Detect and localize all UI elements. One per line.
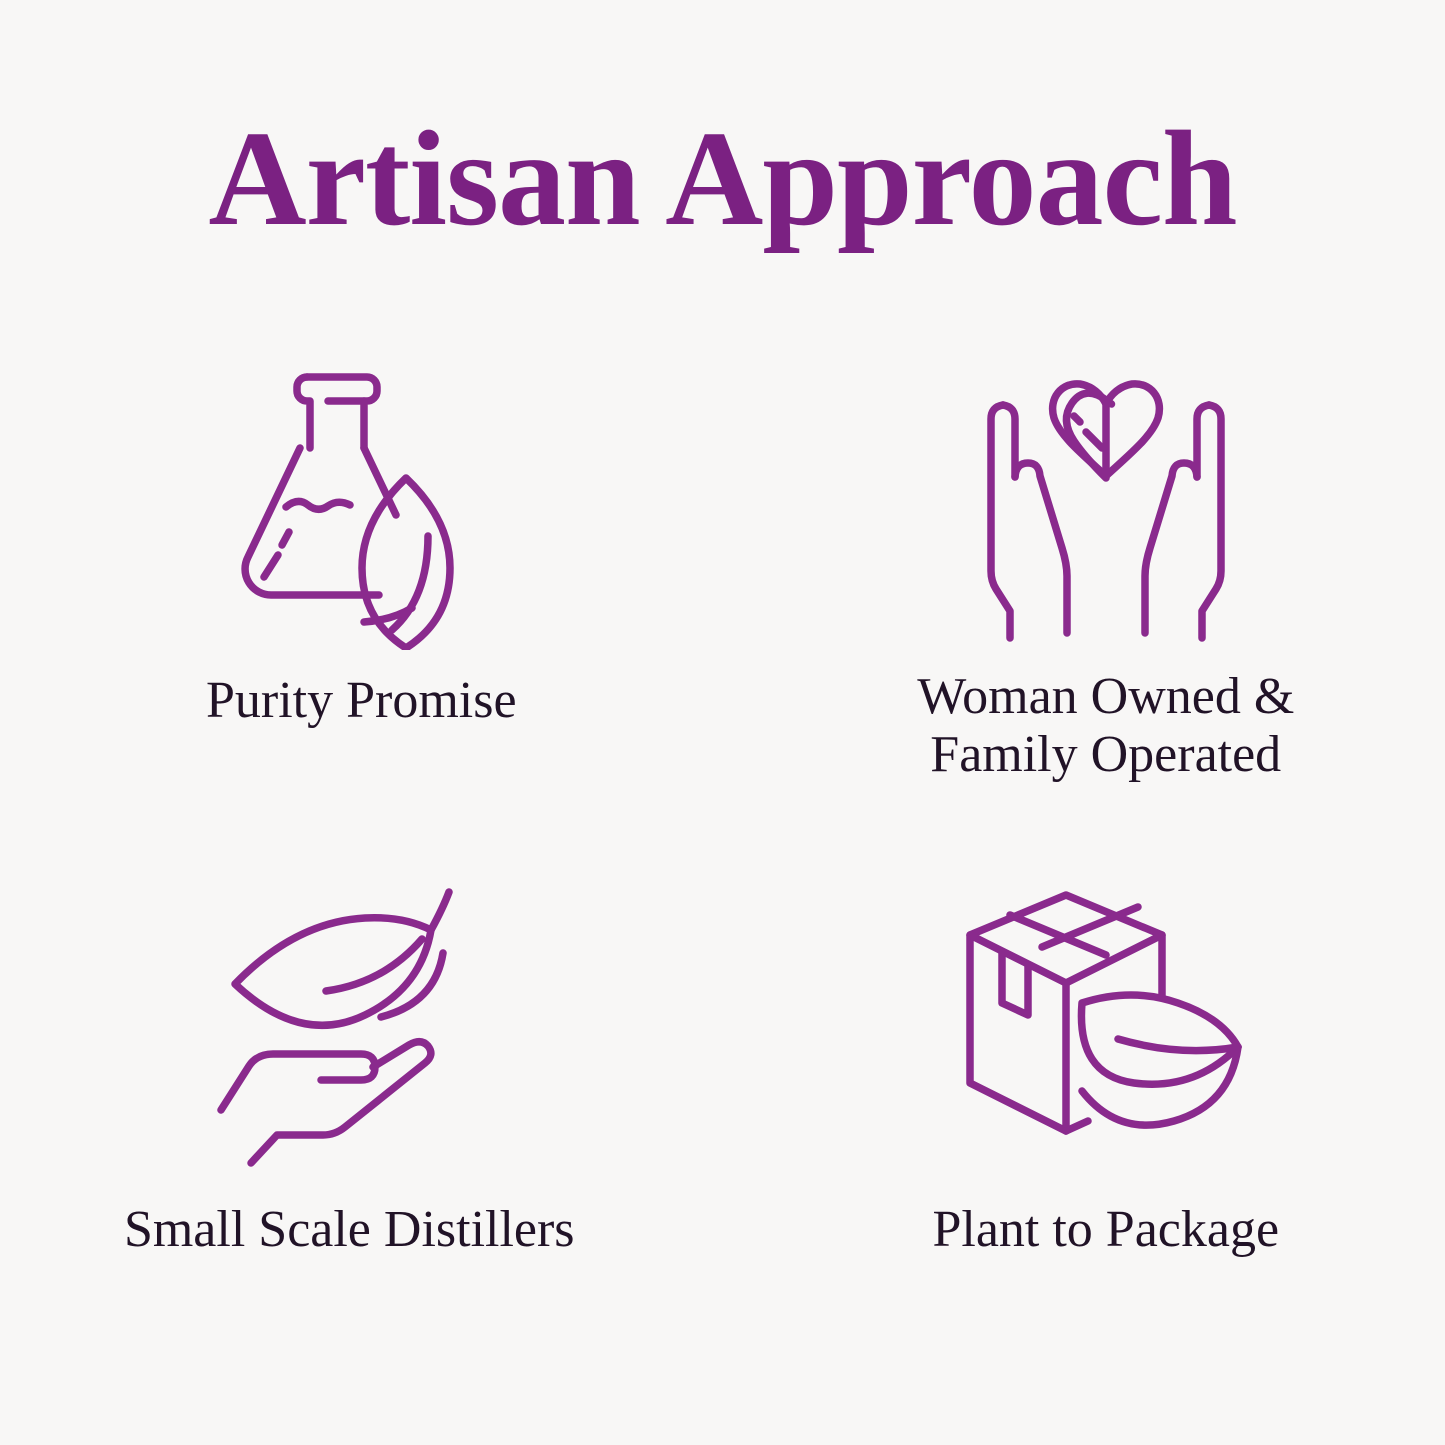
- page-title: Artisan Approach: [0, 108, 1445, 251]
- hand-holding-leaf-icon: [203, 875, 503, 1175]
- box-leaf-icon: [954, 875, 1254, 1175]
- feature-grid: Purity Promise: [0, 340, 1445, 1370]
- page-title-container: Artisan Approach: [0, 108, 1445, 251]
- feature-item-plant-to-package: Plant to Package: [723, 855, 1445, 1370]
- feature-label-woman-owned: Woman Owned & Family Operated: [917, 668, 1294, 784]
- artisan-approach-panel: Artisan Approach: [0, 0, 1445, 1445]
- feature-label-small-scale-distillers: Small Scale Distillers: [124, 1201, 575, 1259]
- feature-item-purity-promise: Purity Promise: [0, 340, 723, 855]
- feature-item-small-scale-distillers: Small Scale Distillers: [0, 855, 723, 1370]
- feature-item-woman-owned: Woman Owned & Family Operated: [723, 340, 1445, 855]
- flask-leaf-icon: [206, 350, 506, 650]
- feature-label-plant-to-package: Plant to Package: [932, 1201, 1279, 1259]
- hands-holding-heart-icon: [956, 356, 1256, 656]
- feature-label-purity-promise: Purity Promise: [206, 672, 517, 730]
